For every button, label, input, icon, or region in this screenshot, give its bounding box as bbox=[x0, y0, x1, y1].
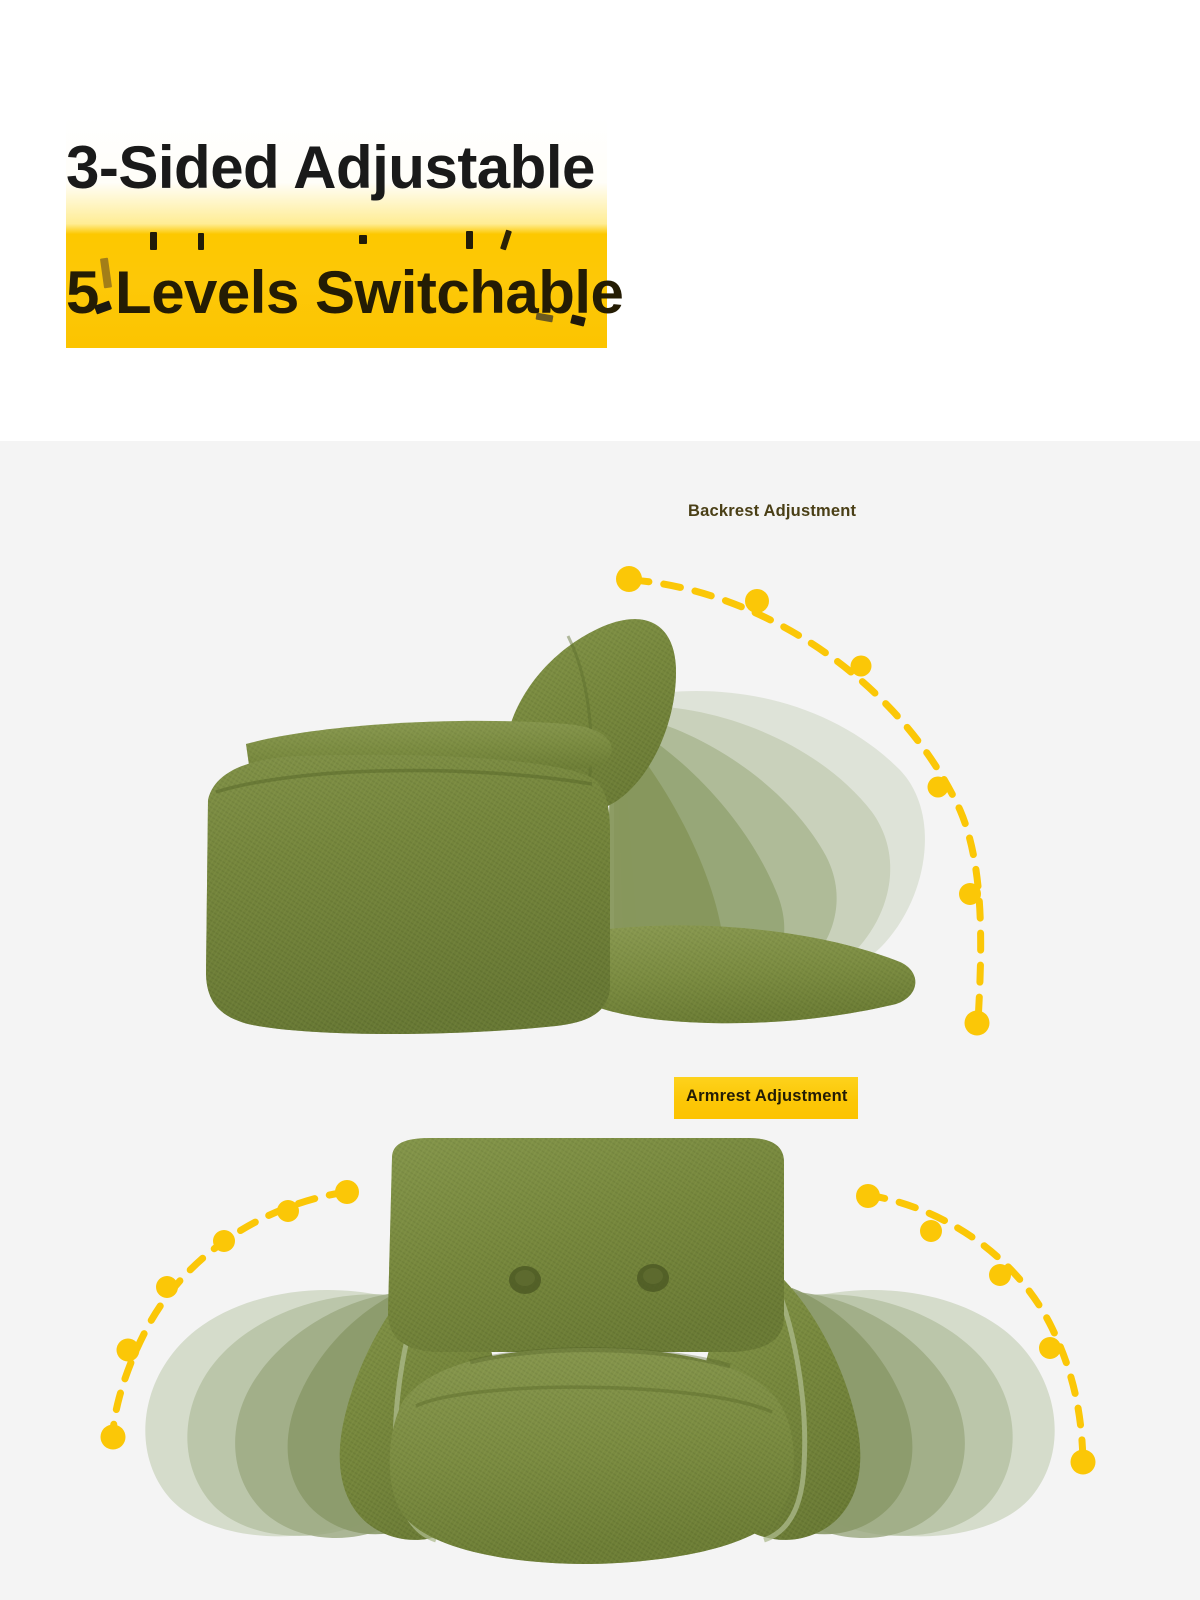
tufted-button bbox=[637, 1264, 669, 1292]
product-illustration bbox=[0, 0, 1200, 1600]
armrest-section-label: Armrest Adjustment bbox=[686, 1087, 848, 1106]
armrest-seat-cushion-texture bbox=[390, 1348, 794, 1564]
armrest-back-pillow-texture bbox=[388, 1138, 784, 1352]
backrest-side-armrest-texture bbox=[206, 755, 610, 1034]
armrest-illustration bbox=[145, 1138, 1054, 1564]
product-feature-banner: 3-Sided Adjustable 5 Levels Switchable bbox=[0, 0, 1200, 1600]
backrest-illustration bbox=[206, 619, 925, 1034]
tufted-button bbox=[509, 1266, 541, 1294]
backrest-section-label: Backrest Adjustment bbox=[688, 502, 856, 521]
